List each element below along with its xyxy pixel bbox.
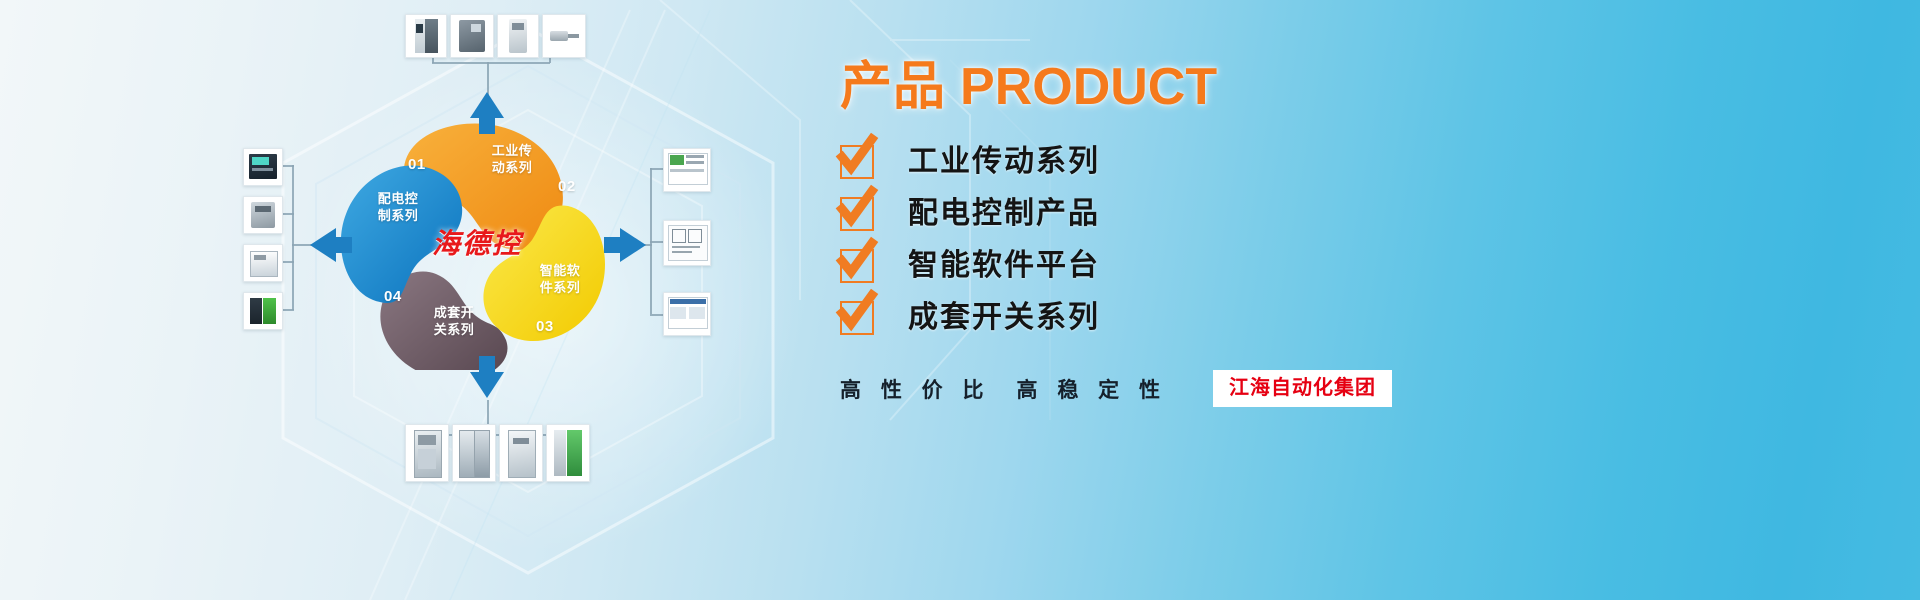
software-screen-thumb[interactable]: [663, 148, 711, 192]
scada-screen-thumb[interactable]: [663, 292, 711, 336]
hmi-screen-thumb[interactable]: [663, 220, 711, 266]
petal-line-1: 成套开: [422, 304, 486, 321]
petal-line-1: 配电控: [366, 190, 430, 207]
tagline-left: 高 性 价 比: [840, 374, 991, 404]
petal-label-industrial-drive: 工业传 动系列: [480, 142, 544, 176]
petal-number-04: 04: [384, 288, 402, 305]
arrow-up-icon: [470, 92, 504, 118]
meter-panel-thumb[interactable]: [243, 148, 283, 186]
company-badge: 江海自动化集团: [1213, 370, 1392, 407]
list-item[interactable]: 工业传动系列: [840, 138, 1540, 186]
petal-line-2: 关系列: [422, 321, 486, 338]
list-item-label: 成套开关系列: [908, 301, 1100, 335]
petal-line-2: 动系列: [480, 159, 544, 176]
page-title: 产品PRODUCT: [840, 58, 1540, 116]
checkmark-icon: [840, 145, 874, 179]
list-item[interactable]: 智能软件平台: [840, 242, 1540, 290]
petal-line-1: 工业传: [480, 142, 544, 159]
petal-line-2: 制系列: [366, 207, 430, 224]
control-box-thumb[interactable]: [243, 196, 283, 234]
brand-center-logo: 海德控: [432, 222, 552, 262]
petal-label-distribution-control: 配电控 制系列: [366, 190, 430, 224]
white-cabinet-thumb[interactable]: [243, 244, 283, 282]
arrow-down-icon: [470, 372, 504, 398]
page-title-en: PRODUCT: [960, 58, 1217, 116]
arrow-right-icon: [620, 228, 646, 262]
motor-shaft-thumb[interactable]: [542, 14, 586, 58]
page-title-cn: 产品: [840, 58, 946, 116]
servo-drive-thumb[interactable]: [405, 14, 447, 58]
green-cabinet-thumb[interactable]: [546, 424, 590, 482]
product-text-panel: 产品PRODUCT 工业传动系列 配电控制产品: [840, 58, 1540, 407]
petal-number-01: 01: [408, 156, 426, 173]
checkmark-icon: [840, 197, 874, 231]
petal-number-03: 03: [536, 318, 554, 335]
tagline-row: 高 性 价 比 高 稳 定 性 江海自动化集团: [840, 370, 1540, 407]
connector-right-branch-1: [650, 168, 664, 170]
tagline-right: 高 稳 定 性: [1017, 374, 1168, 404]
connector-right-branch-3: [650, 314, 664, 316]
list-item-label: 配电控制产品: [908, 197, 1100, 231]
green-module-thumb[interactable]: [243, 292, 283, 330]
vfd-unit-thumb[interactable]: [497, 14, 539, 58]
distribution-cabinet-thumb[interactable]: [452, 424, 496, 482]
connector-top-vertical: [487, 62, 489, 96]
connector-left-vertical: [292, 165, 294, 310]
inverter-thumb[interactable]: [450, 14, 494, 58]
connector-right-branch-2: [650, 241, 664, 243]
checkmark-icon: [840, 301, 874, 335]
list-item[interactable]: 配电控制产品: [840, 190, 1540, 238]
panel-cabinet-thumb[interactable]: [499, 424, 543, 482]
product-checklist: 工业传动系列 配电控制产品 智能软件平台: [840, 138, 1540, 342]
arrow-left-icon: [310, 228, 336, 262]
petal-line-1: 智能软: [528, 262, 592, 279]
switchgear-cabinet-thumb[interactable]: [405, 424, 449, 482]
checkmark-icon: [840, 249, 874, 283]
product-banner: 工业传 动系列 01 智能软 件系列 02 成套开 关系列 03 配电控 制系列…: [0, 0, 1920, 600]
petal-label-smart-software: 智能软 件系列: [528, 262, 592, 296]
list-item[interactable]: 成套开关系列: [840, 294, 1540, 342]
list-item-label: 智能软件平台: [908, 249, 1100, 283]
connector-top-horizontal: [432, 62, 550, 64]
list-item-label: 工业传动系列: [908, 145, 1100, 179]
petal-line-2: 件系列: [528, 279, 592, 296]
petal-label-switchgear: 成套开 关系列: [422, 304, 486, 338]
petal-number-02: 02: [558, 178, 576, 195]
